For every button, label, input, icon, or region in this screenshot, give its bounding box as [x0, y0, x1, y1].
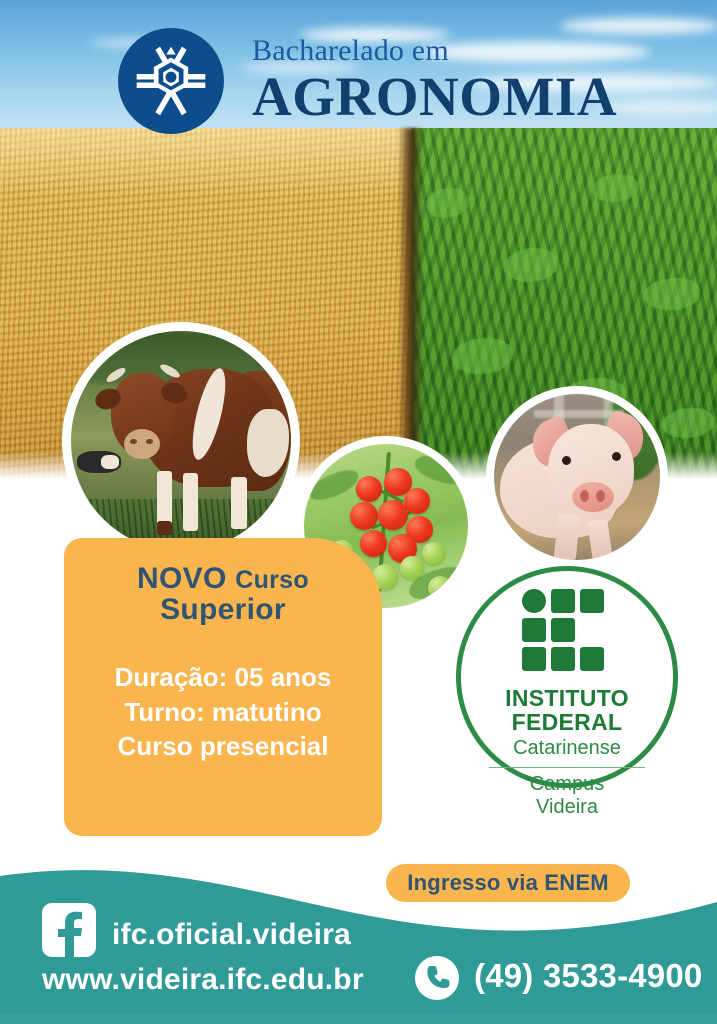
seal-line-instituto: INSTITUTO [461, 687, 673, 710]
field-boundary [398, 128, 422, 482]
cow-leg [183, 473, 198, 531]
course-detail-modality: Curso presencial [64, 729, 382, 764]
phone-icon[interactable] [414, 955, 460, 1001]
wheat-haze [0, 128, 412, 198]
cow-leg [231, 477, 247, 529]
seal-line-catarinense: Catarinense [461, 737, 673, 760]
facebook-icon[interactable] [42, 903, 96, 957]
seal-line-federal: FEDERAL [461, 711, 673, 734]
enem-badge[interactable]: Ingresso via ENEM [386, 864, 630, 902]
tomato [356, 476, 382, 502]
course-detail-duration: Duração: 05 anos [64, 660, 382, 695]
website-url[interactable]: www.videira.ifc.edu.br [42, 963, 364, 997]
course-box-title: NOVO Curso Superior [64, 564, 382, 625]
soy-leaf [662, 408, 714, 438]
footer-bottom-strip [0, 1014, 717, 1024]
cow-muzzle [124, 429, 160, 459]
cow-nostril [130, 439, 137, 444]
course-degree-label: Bacharelado em [252, 36, 682, 66]
tomato [360, 530, 387, 557]
agronomia-logo [118, 28, 224, 134]
leaf [306, 467, 362, 504]
poster: Bacharelado em AGRONOMIA [0, 0, 717, 1024]
page-title: AGRONOMIA [252, 69, 682, 125]
course-title-line2: Superior [64, 595, 382, 626]
phone-number[interactable]: (49) 3533-4900 [474, 957, 702, 995]
pig-leg [554, 513, 581, 560]
course-title-novo: NOVO [137, 562, 227, 595]
pig-snout [572, 482, 614, 512]
tomato [400, 556, 424, 580]
cow-image [71, 331, 291, 551]
cow-photo [62, 322, 300, 560]
soy-leaf [592, 174, 638, 202]
soy-leaf [644, 278, 700, 310]
ifc-grid-mark-icon [521, 588, 613, 680]
course-title-line1: NOVO Curso [64, 564, 382, 595]
tomato [350, 502, 378, 530]
background-cow [77, 451, 121, 473]
pig-nostril [596, 490, 605, 502]
seal-campus-label: Campus [461, 773, 673, 796]
soy-leaf [452, 338, 512, 374]
pig-eye [562, 456, 571, 465]
tomato [378, 500, 408, 530]
pig-image [494, 394, 660, 560]
cow-hoof [157, 521, 172, 535]
course-title-curso: Curso [235, 566, 309, 594]
tomato [428, 576, 452, 600]
tomato [422, 542, 445, 565]
facebook-handle[interactable]: ifc.oficial.videira [112, 918, 351, 952]
hexagonal-star-icon [132, 42, 210, 120]
ifc-seal: INSTITUTO FEDERAL Catarinense Campus Vid… [456, 566, 678, 788]
cloud [560, 18, 717, 34]
pig-nostril [580, 490, 589, 502]
pig-leg [587, 519, 612, 560]
course-detail-shift: Turno: matutino [64, 695, 382, 730]
seal-divider [489, 767, 645, 768]
title-block: Bacharelado em AGRONOMIA [252, 36, 682, 125]
course-info-box: NOVO Curso Superior Duração: 05 anos Tur… [64, 538, 382, 836]
seal-campus: Campus Videira [461, 773, 673, 819]
soy-leaf [504, 248, 558, 282]
pig-eye [612, 452, 621, 461]
soy-leaf [426, 188, 468, 218]
tomato [404, 488, 430, 514]
seal-campus-name: Videira [461, 796, 673, 819]
pig-photo [486, 386, 668, 568]
cow-nostril [146, 439, 153, 444]
course-details: Duração: 05 anos Turno: matutino Curso p… [64, 660, 382, 764]
